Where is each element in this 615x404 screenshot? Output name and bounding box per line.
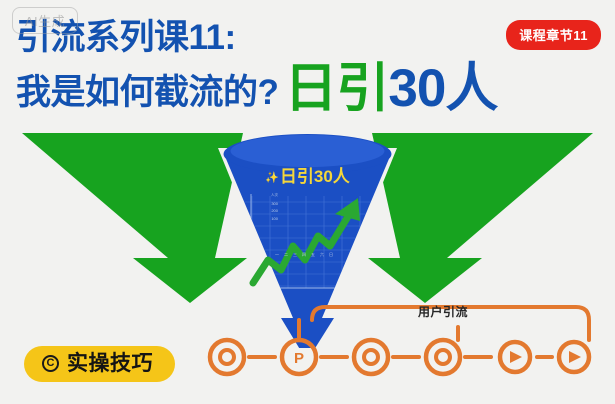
chapter-badge[interactable]: 课程章节11 bbox=[506, 20, 601, 50]
practice-badge[interactable]: C 实操技巧 bbox=[24, 346, 175, 382]
headline-highlight: 日引30人 bbox=[284, 65, 497, 114]
node-play-2[interactable] bbox=[559, 342, 589, 372]
headline-line-2: 我是如何截流的? 日引30人 bbox=[16, 61, 606, 110]
headline-highlight-green: 日引 bbox=[284, 59, 388, 118]
headline-question: 我是如何截流的? bbox=[16, 75, 278, 110]
node-parking-p-glyph: P bbox=[294, 350, 304, 367]
funnel-rim-inner bbox=[231, 135, 385, 167]
node-parking-p[interactable]: P bbox=[282, 340, 316, 374]
flow-label: 用户引流 bbox=[418, 303, 468, 320]
user-flow-diagram: P bbox=[196, 290, 615, 390]
poster-root: AI生成 课程章节11 引流系列课11: 我是如何截流的? 日引30人 bbox=[0, 0, 615, 404]
green-wing-left bbox=[22, 133, 247, 303]
node-target-1[interactable] bbox=[210, 340, 244, 374]
headline-highlight-blue: 30人 bbox=[388, 59, 497, 118]
green-wing-right bbox=[368, 133, 593, 303]
node-target-2[interactable] bbox=[354, 340, 388, 374]
practice-badge-label: 实操技巧 bbox=[67, 353, 153, 374]
node-target-3[interactable] bbox=[426, 340, 460, 374]
copyright-icon: C bbox=[42, 355, 59, 372]
node-play-1[interactable] bbox=[500, 342, 530, 372]
